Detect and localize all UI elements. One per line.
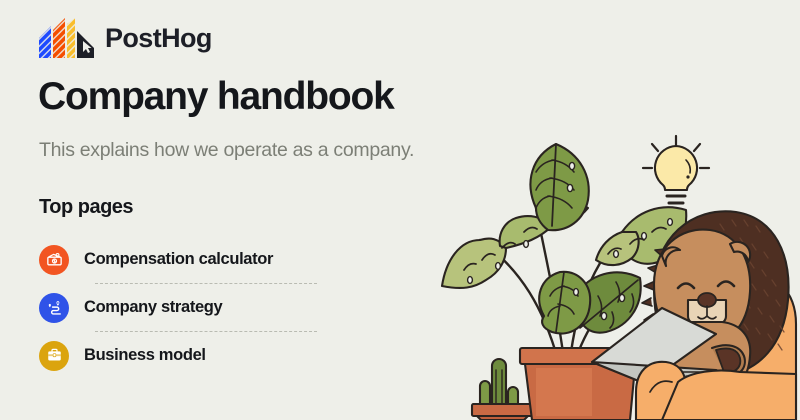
- page-title: Company handbook: [38, 76, 394, 119]
- map-route-icon: [39, 293, 69, 323]
- cactus-plant: [480, 359, 518, 410]
- terracotta-pot-small: [472, 404, 532, 420]
- top-page-link-compensation-calculator[interactable]: Compensation calculator: [39, 236, 329, 283]
- money-icon: [39, 245, 69, 275]
- lightbulb-icon: [643, 136, 709, 203]
- handbook-page: PostHog Company handbook This explains h…: [0, 0, 800, 420]
- laptop: [592, 308, 740, 384]
- brand-name: PostHog: [105, 25, 212, 52]
- posthog-logo-icon: [38, 18, 94, 58]
- hedgehog-on-sofa-with-laptop-illustration: [440, 120, 800, 420]
- page-subtitle: This explains how we operate as a compan…: [39, 138, 414, 162]
- top-page-link-company-strategy[interactable]: Company strategy: [39, 284, 329, 331]
- brand-header[interactable]: PostHog: [38, 18, 212, 58]
- orange-sofa-front: [636, 362, 796, 420]
- briefcase-icon: [39, 341, 69, 371]
- hedgehog-mascot: [642, 211, 789, 418]
- monstera-plant: [442, 144, 686, 360]
- top-page-label: Compensation calculator: [84, 250, 273, 269]
- top-pages-list: Compensation calculator Company strategy: [39, 236, 329, 379]
- top-page-label: Company strategy: [84, 298, 222, 317]
- top-page-label: Business model: [84, 346, 206, 365]
- terracotta-pot-large: [520, 348, 640, 420]
- orange-sofa: [720, 270, 796, 420]
- top-pages-heading: Top pages: [39, 196, 133, 219]
- top-page-link-business-model[interactable]: Business model: [39, 332, 329, 379]
